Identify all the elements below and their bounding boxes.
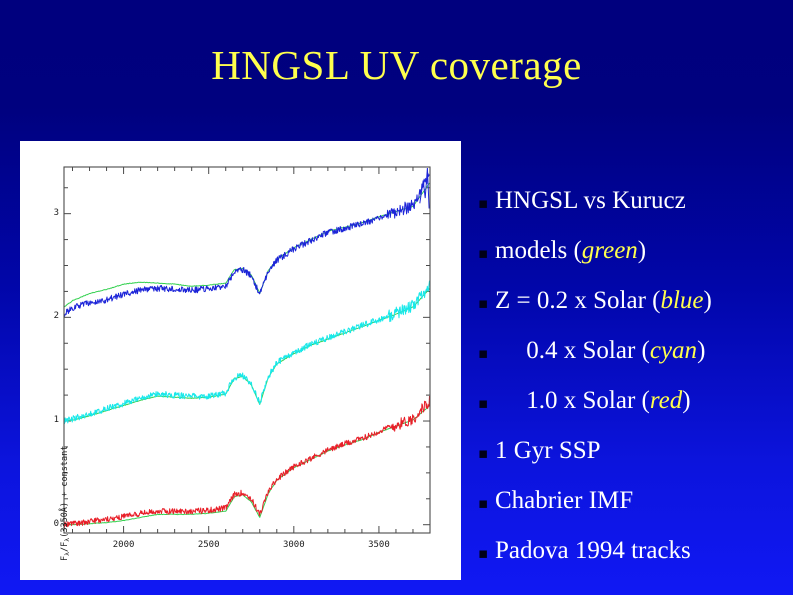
bullet-color-keyword: green [582, 237, 638, 264]
x-tick-label: 2000 [110, 540, 138, 550]
x-tick-label: 3000 [280, 540, 308, 550]
bullet-text: Padova 1994 tracks [495, 536, 691, 566]
bullet-text: 1 Gyr SSP [495, 436, 601, 466]
list-item: ▪1 Gyr SSP [478, 436, 793, 486]
bullet-marker-icon: ▪ [478, 296, 495, 311]
bullet-text: 0.4 x Solar (cyan) [495, 336, 705, 366]
bullet-marker-icon: ▪ [478, 496, 495, 511]
x-tick-label: 2500 [195, 540, 223, 550]
list-item: ▪models (green) [478, 236, 793, 286]
bullet-text-lead: Padova 1994 tracks [495, 537, 691, 564]
bullet-marker-icon: ▪ [478, 346, 495, 361]
bullet-marker-icon: ▪ [478, 446, 495, 461]
ylabel-lead: F [60, 556, 70, 561]
ylabel-sub1: λ [63, 552, 71, 556]
list-item: ▪ 0.4 x Solar (cyan) [478, 336, 793, 386]
bullet-text-lead: Z = 0.2 x Solar ( [495, 287, 660, 314]
spectra-plot [20, 141, 461, 580]
list-item: ▪Padova 1994 tracks [478, 536, 793, 586]
bullet-color-keyword: blue [660, 287, 703, 314]
bullet-text-lead: models ( [495, 237, 582, 264]
bullet-text: 1.0 x Solar (red) [495, 386, 691, 416]
bullet-text-tail: ) [682, 387, 690, 414]
bullet-text: models (green) [495, 236, 646, 266]
page-title: HNGSL UV coverage [0, 40, 793, 90]
bullet-text-tail: ) [638, 237, 646, 264]
y-tick-label: 3 [46, 208, 59, 218]
slide-canvas: HNGSL UV coverage 1 Gyr, (0.4, 1, 2.5) ×… [0, 0, 793, 595]
bullet-marker-icon: ▪ [478, 196, 495, 211]
bullet-text-tail: ) [704, 287, 712, 314]
bullet-text-tail: ) [697, 337, 705, 364]
y-axis-label: Fλ/Fλ(3350Å) + constant [60, 446, 71, 561]
list-item: ▪HNGSL vs Kurucz [478, 186, 793, 236]
bullet-marker-icon: ▪ [478, 546, 495, 561]
bullet-list: ▪HNGSL vs Kurucz▪models (green)▪Z = 0.2 … [478, 186, 793, 586]
ylabel-tail: (3350Å) + constant [60, 446, 70, 538]
bullet-text-lead: 1.0 x Solar ( [495, 387, 650, 414]
bullet-text-lead: Chabrier IMF [495, 487, 633, 514]
bullet-text: HNGSL vs Kurucz [495, 186, 686, 216]
bullet-text: Chabrier IMF [495, 486, 633, 516]
ylabel-sub2: λ [63, 538, 71, 542]
bullet-color-keyword: cyan [650, 337, 697, 364]
list-item: ▪Z = 0.2 x Solar (blue) [478, 286, 793, 336]
ylabel-mid: /F [60, 542, 70, 552]
bullet-marker-icon: ▪ [478, 396, 495, 411]
bullet-text-lead: 0.4 x Solar ( [495, 337, 650, 364]
list-item: ▪Chabrier IMF [478, 486, 793, 536]
x-tick-label: 3500 [365, 540, 393, 550]
y-tick-label: 1 [46, 415, 59, 425]
y-tick-label: 0 [46, 519, 59, 529]
y-tick-label: 2 [46, 311, 59, 321]
figure-panel: 1 Gyr, (0.4, 1, 2.5) ×Z☉, Chabrier IMF, … [20, 141, 461, 580]
bullet-text-lead: HNGSL vs Kurucz [495, 187, 686, 214]
bullet-text-lead: 1 Gyr SSP [495, 437, 601, 464]
bullet-marker-icon: ▪ [478, 246, 495, 261]
bullet-color-keyword: red [650, 387, 682, 414]
bullet-text: Z = 0.2 x Solar (blue) [495, 286, 712, 316]
list-item: ▪ 1.0 x Solar (red) [478, 386, 793, 436]
